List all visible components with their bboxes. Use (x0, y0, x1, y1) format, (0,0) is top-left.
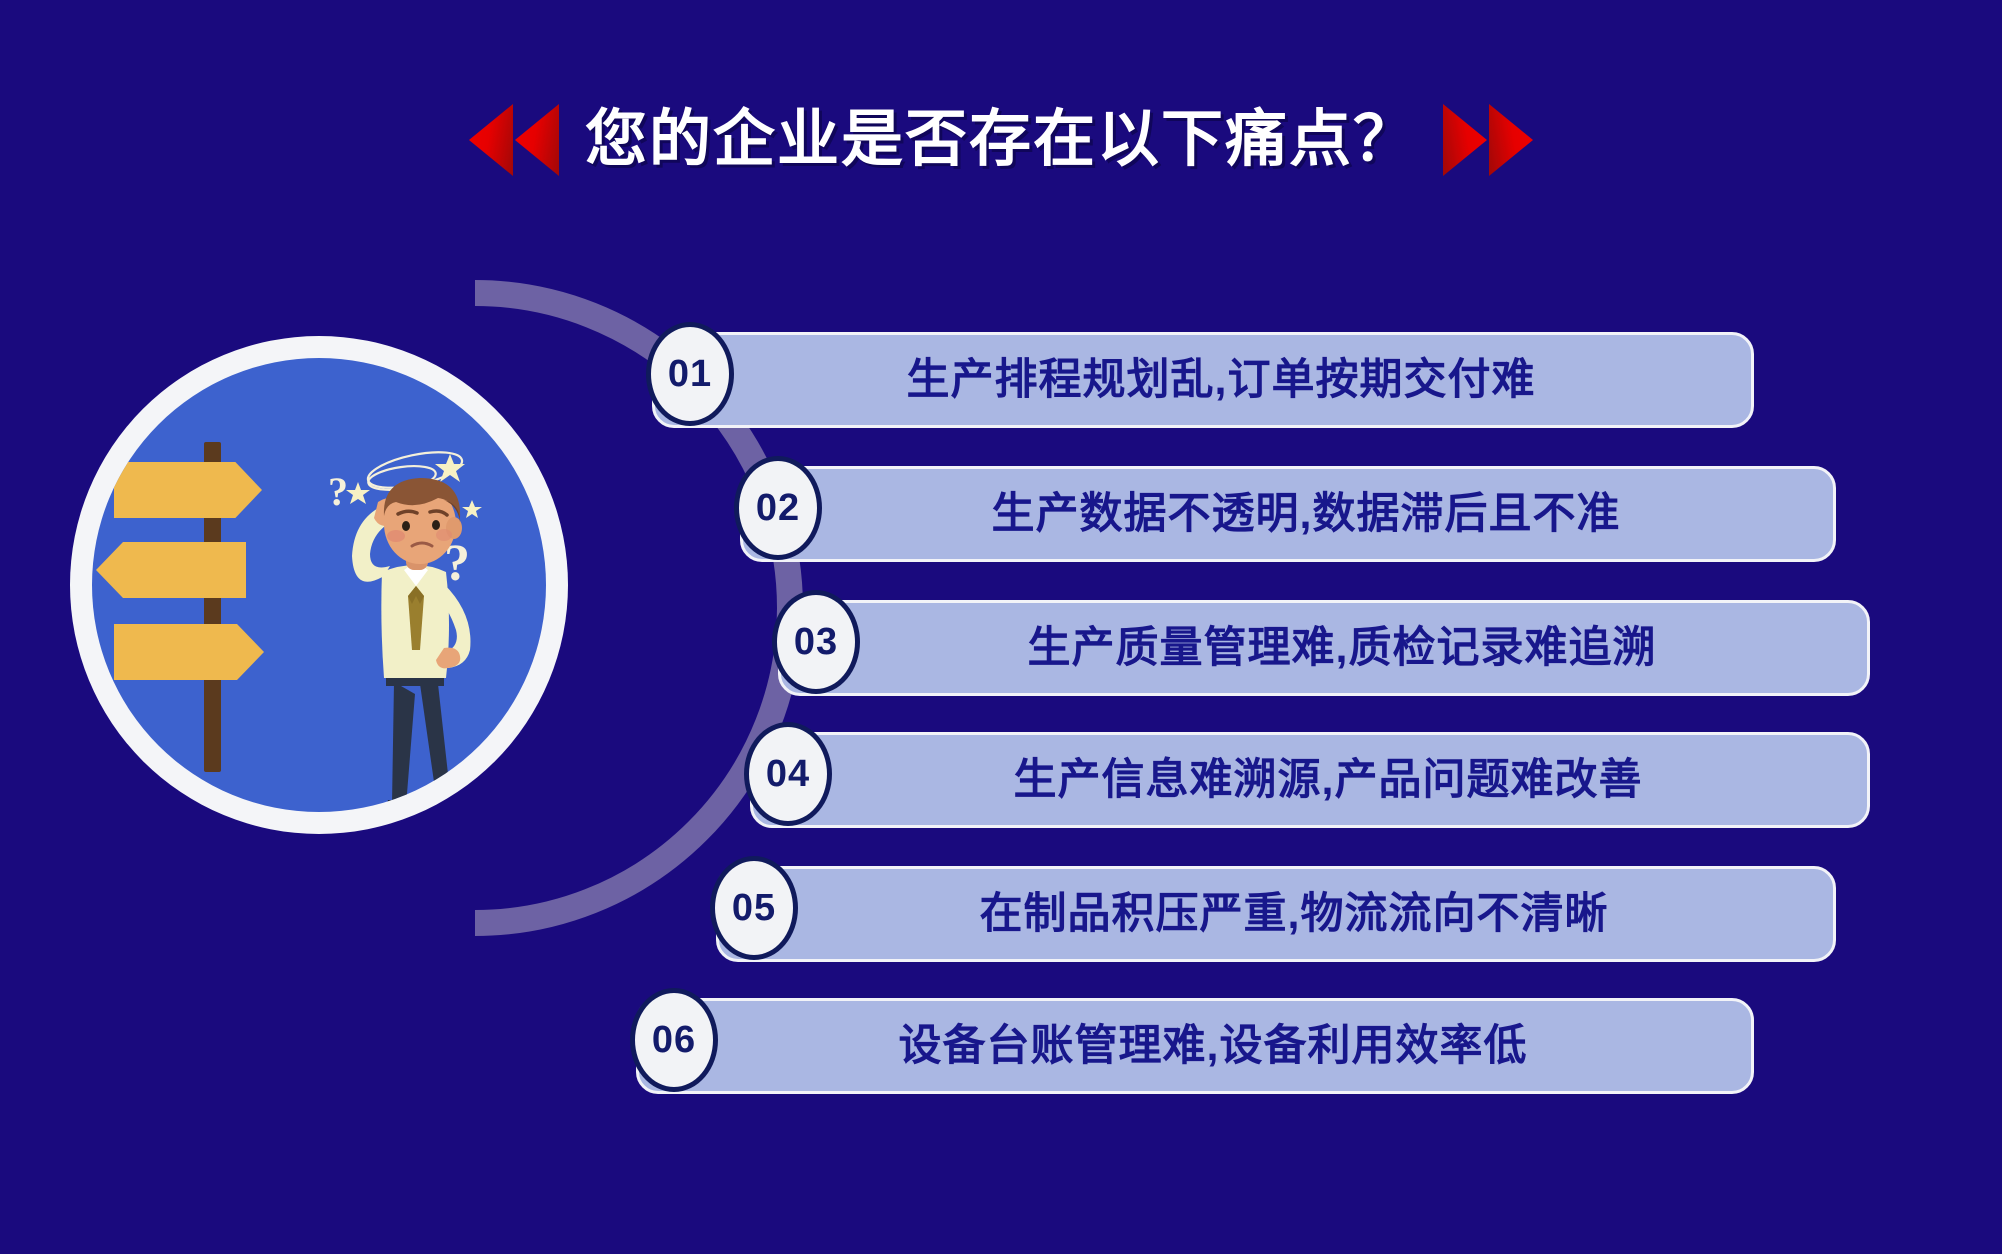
pain-point-bar[interactable]: 在制品积压严重,物流流向不清晰 (716, 866, 1836, 962)
pain-point-bar[interactable]: 设备台账管理难,设备利用效率低 (636, 998, 1754, 1094)
pain-point-text: 生产质量管理难,质检记录难追溯 (781, 627, 1867, 670)
pain-point-number-badge: 06 (630, 988, 718, 1092)
pain-point-text: 设备台账管理难,设备利用效率低 (639, 1025, 1751, 1068)
pain-point-list: 生产排程规划乱,订单按期交付难 01 生产数据不透明,数据滞后且不准 02 生产… (0, 0, 2002, 1254)
pain-point-bar[interactable]: 生产排程规划乱,订单按期交付难 (652, 332, 1754, 428)
pain-point-bar[interactable]: 生产数据不透明,数据滞后且不准 (740, 466, 1836, 562)
pain-point-number-badge: 01 (646, 322, 734, 426)
pain-point-bar[interactable]: 生产质量管理难,质检记录难追溯 (778, 600, 1870, 696)
pain-point-number-badge: 02 (734, 456, 822, 560)
pain-point-text: 生产信息难溯源,产品问题难改善 (753, 759, 1867, 802)
pain-point-bar[interactable]: 生产信息难溯源,产品问题难改善 (750, 732, 1870, 828)
pain-point-text: 生产数据不透明,数据滞后且不准 (743, 493, 1833, 536)
pain-point-number-badge: 04 (744, 722, 832, 826)
pain-point-text: 生产排程规划乱,订单按期交付难 (655, 359, 1751, 402)
pain-point-text: 在制品积压严重,物流流向不清晰 (719, 893, 1833, 936)
pain-point-number-badge: 03 (772, 590, 860, 694)
slide-canvas: 您的企业是否存在以下痛点？ ? ? (0, 0, 2002, 1254)
pain-point-number-badge: 05 (710, 856, 798, 960)
